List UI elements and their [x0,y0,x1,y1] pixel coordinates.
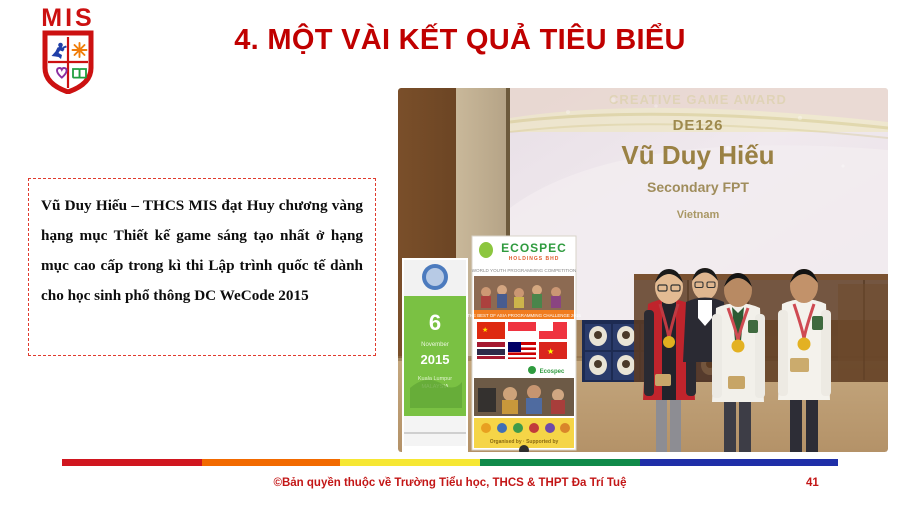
green-banner: 6 November 2015 Kuala Lumpur MALAYSIA [402,258,468,452]
bar-segment-orange [202,459,340,466]
svg-text:Secondary FPT: Secondary FPT [647,179,749,195]
rainbow-divider [62,459,838,466]
svg-text:THE BEST OF ASIA PROGRAMMING C: THE BEST OF ASIA PROGRAMMING CHALLENGE 2… [467,313,581,318]
svg-text:6: 6 [429,310,441,335]
copyright-text: ©Bản quyền thuộc về Trường Tiểu học, THC… [0,477,900,489]
svg-text:November: November [421,342,449,348]
svg-text:Ecospec: Ecospec [540,369,565,375]
svg-text:2015: 2015 [421,352,450,367]
caption-textbox: Vũ Duy Hiếu – THCS MIS đạt Huy chương và… [28,178,376,356]
bar-segment-red [62,459,202,466]
svg-text:ECOSPEC: ECOSPEC [501,241,567,255]
svg-text:★: ★ [547,347,554,356]
svg-text:Vietnam: Vietnam [677,209,720,221]
bar-segment-blue [640,459,838,466]
svg-text:DE126: DE126 [673,117,724,134]
logo-wordmark: MIS [22,6,114,30]
award-ceremony-photo: CREATIVE GAME AWARD DE126 Vũ Duy Hiếu Se… [398,88,888,452]
bar-segment-green [480,459,640,466]
slide-canvas: MIS [0,0,900,506]
svg-text:★: ★ [482,326,488,334]
svg-text:Vũ Duy Hiếu: Vũ Duy Hiếu [621,140,774,170]
bar-segment-yellow [340,459,480,466]
svg-text:CREATIVE GAME AWARD: CREATIVE GAME AWARD [609,92,787,107]
ecospec-banner: ECOSPEC HOLDINGS BHD WORLD YOUTH PROGRAM… [467,236,581,452]
mis-logo: MIS [22,6,114,98]
starburst-icon [73,43,87,57]
page-number: 41 [806,477,846,489]
page-title: 4. MỘT VÀI KẾT QUẢ TIÊU BIỂU [140,24,780,57]
photo-artwork: CREATIVE GAME AWARD DE126 Vũ Duy Hiếu Se… [398,88,888,452]
svg-text:HOLDINGS BHD: HOLDINGS BHD [509,256,560,262]
shield-icon [42,30,94,94]
caption-text: Vũ Duy Hiếu – THCS MIS đạt Huy chương và… [29,179,375,311]
svg-text:WORLD YOUTH PROGRAMMING COMPET: WORLD YOUTH PROGRAMMING COMPETITION [472,268,577,273]
svg-text:Organised by · Supported by: Organised by · Supported by [490,439,559,445]
